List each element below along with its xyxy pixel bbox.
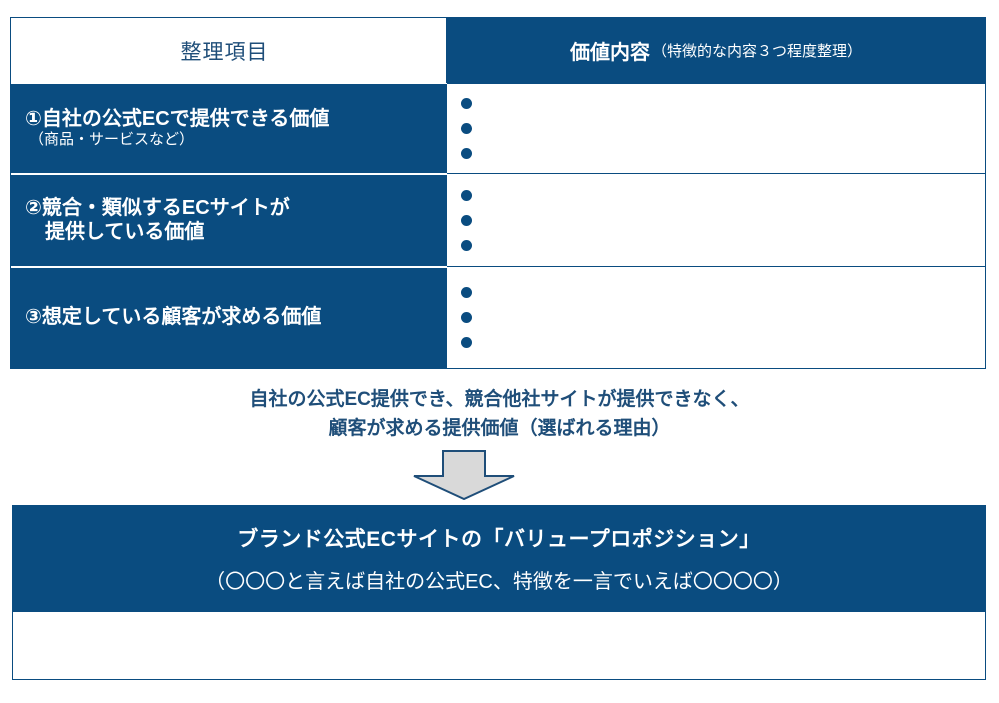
value-proposition-table: 整理項目 価値内容 （特徴的な内容３つ程度整理） ①自社の公式ECで提供できる価… (10, 17, 986, 369)
row-content-cell-3[interactable] (446, 267, 985, 368)
table-header-row: 整理項目 価値内容 （特徴的な内容３つ程度整理） (11, 18, 985, 83)
bullet-point-icon (461, 287, 472, 298)
bullet-point-icon (461, 123, 472, 134)
header-label-category: 整理項目 (181, 36, 269, 66)
header-cell-value-content: 価値内容 （特徴的な内容３つ程度整理） (446, 18, 985, 83)
bullet-point-icon (461, 240, 472, 251)
table-row: ①自社の公式ECで提供できる価値 （商品・サービスなど） (11, 84, 985, 173)
bullet-list-1 (461, 84, 985, 173)
summary-caption-line-2: 顧客が求める提供価値（選ばれる理由） (0, 415, 999, 444)
bullet-point-icon (461, 312, 472, 323)
table-divider (447, 173, 986, 174)
answer-input-box[interactable] (12, 612, 986, 680)
bullet-point-icon (461, 190, 472, 201)
row-label-cell-1: ①自社の公式ECで提供できる価値 （商品・サービスなど） (11, 84, 446, 173)
row-label-cell-3: ③想定している顧客が求める価値 (11, 267, 446, 368)
bullet-list-2 (461, 174, 985, 266)
header-label-value-content: 価値内容 (570, 36, 650, 65)
bullet-point-icon (461, 148, 472, 159)
header-cell-category: 整理項目 (11, 18, 446, 83)
row-content-cell-1[interactable] (446, 84, 985, 173)
result-subtitle: （〇〇〇と言えば自社の公式EC、特徴を一言でいえば〇〇〇〇） (205, 565, 793, 594)
row-label-main-2: ②競合・類似するECサイトが 提供している価値 (25, 196, 438, 245)
row-label-sub-1: （商品・サービスなど） (25, 131, 438, 150)
summary-caption-line-1: 自社の公式EC提供でき、競合他社サイトが提供できなく、 (0, 386, 999, 415)
row-label-main-3: ③想定している顧客が求める価値 (25, 305, 438, 329)
table-divider (447, 83, 986, 84)
table-divider (447, 266, 986, 267)
row-label-cell-2: ②競合・類似するECサイトが 提供している価値 (11, 174, 446, 266)
table-row: ③想定している顧客が求める価値 (11, 267, 985, 368)
left-column-gap (11, 173, 447, 175)
bullet-point-icon (461, 98, 472, 109)
bullet-point-icon (461, 337, 472, 348)
row-content-cell-2[interactable] (446, 174, 985, 266)
row-label-main-1: ①自社の公式ECで提供できる価値 (25, 107, 438, 131)
left-column-gap (11, 266, 447, 268)
header-note-value-content: （特徴的な内容３つ程度整理） (652, 40, 862, 61)
bullet-point-icon (461, 215, 472, 226)
slide-canvas: 整理項目 価値内容 （特徴的な内容３つ程度整理） ①自社の公式ECで提供できる価… (0, 0, 999, 703)
down-block-arrow-icon (413, 450, 515, 500)
value-proposition-result-box: ブランド公式ECサイトの「バリュープロポジション」 （〇〇〇と言えば自社の公式E… (12, 505, 986, 612)
result-title: ブランド公式ECサイトの「バリュープロポジション」 (237, 523, 760, 553)
table-row: ②競合・類似するECサイトが 提供している価値 (11, 174, 985, 266)
summary-caption: 自社の公式EC提供でき、競合他社サイトが提供できなく、 顧客が求める提供価値（選… (0, 386, 999, 443)
bullet-list-3 (461, 267, 985, 368)
